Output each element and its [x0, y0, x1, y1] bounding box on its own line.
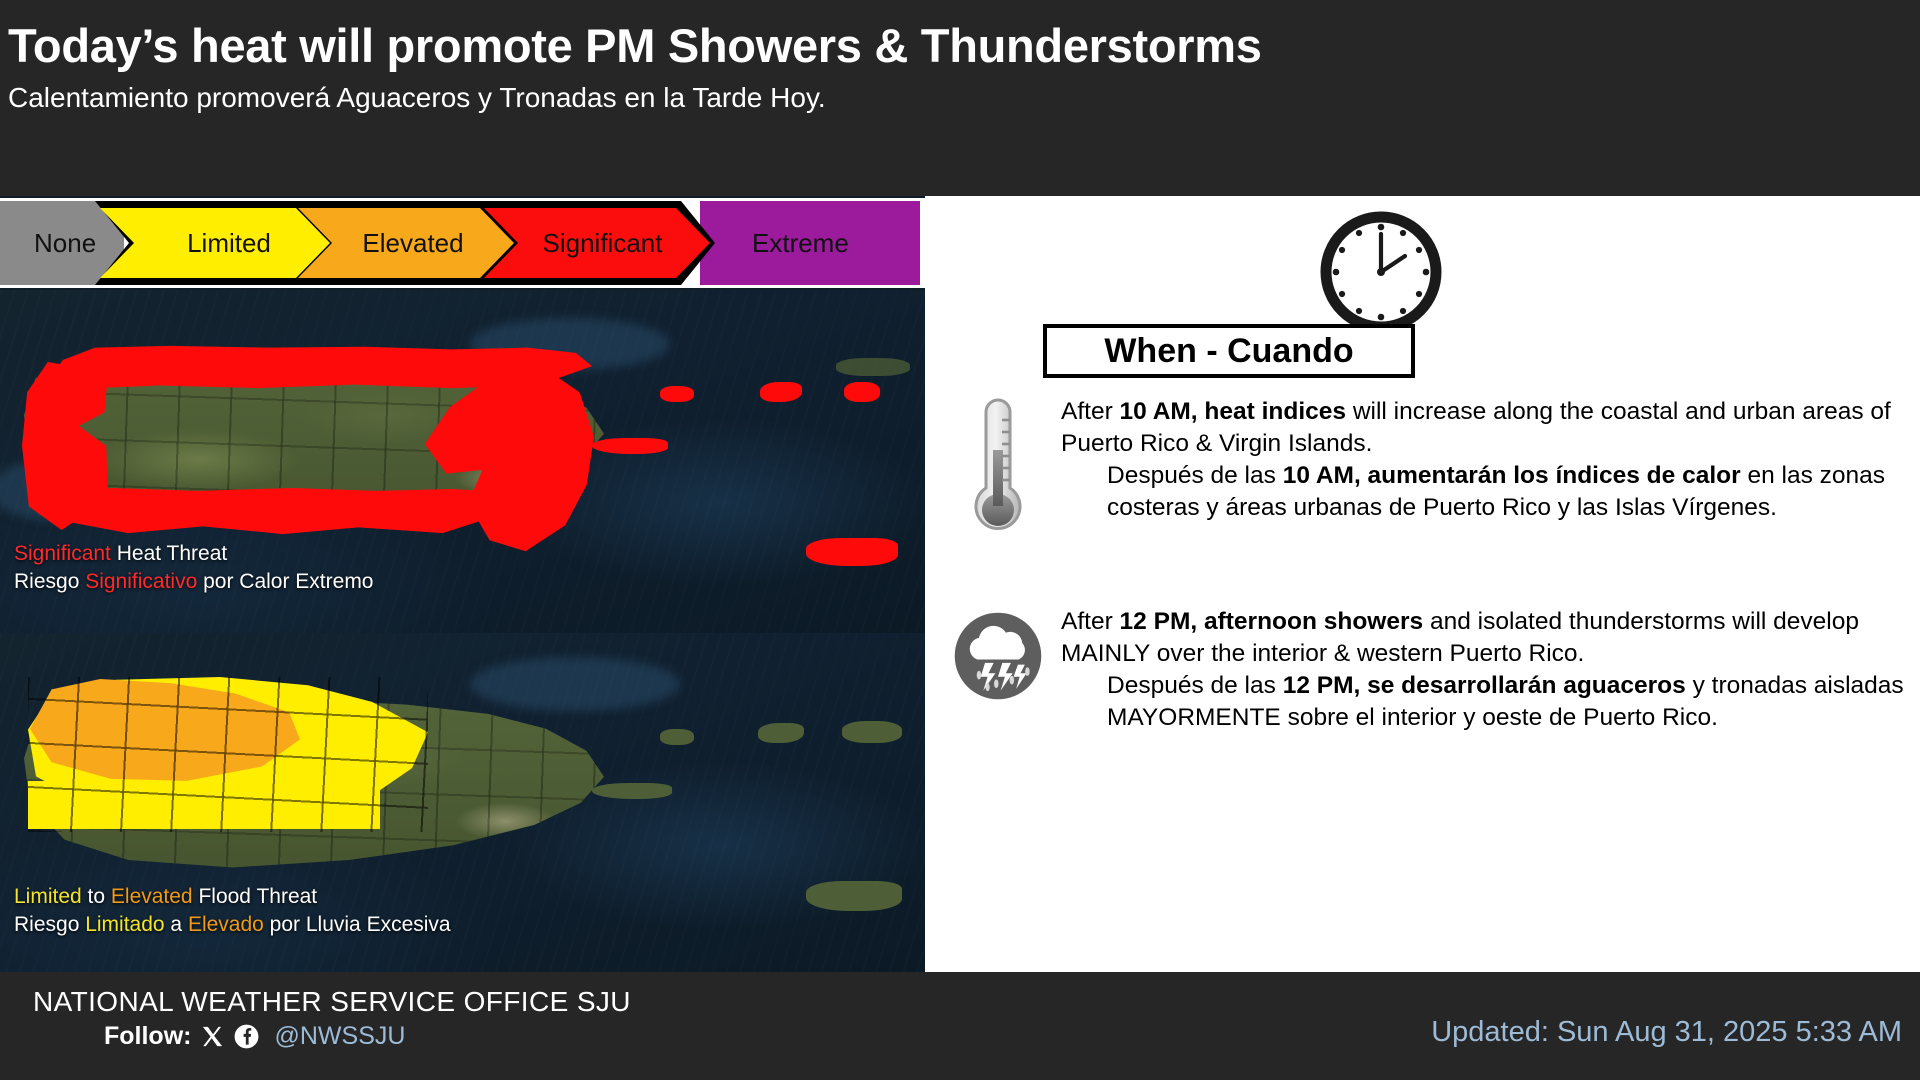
threat-scale: None Extreme Limited Elevated Sign: [0, 198, 925, 288]
page-subtitle: Calentamiento promoverá Aguaceros y Tron…: [8, 81, 1920, 115]
threat-level-significant-label: Significant: [495, 201, 710, 285]
heat-en-1: After: [1061, 398, 1120, 425]
when-panel: When - Cuando: [925, 196, 1920, 972]
st-thomas-heat-zone: [760, 382, 802, 402]
st-thomas-landmass: [758, 723, 804, 743]
follow-label: Follow:: [104, 1022, 191, 1051]
heat-threat-map[interactable]: Significant Heat Threat Riesgo Significa…: [0, 290, 925, 633]
when-heading: When - Cuando: [1104, 332, 1353, 371]
infographic-page: Today’s heat will promote PM Showers & T…: [0, 0, 1920, 1080]
flood-legend-es-pre: Riesgo: [14, 913, 85, 936]
header-banner: Today’s heat will promote PM Showers & T…: [0, 0, 1920, 196]
flood-legend-en-limited: Limited: [14, 885, 82, 908]
heat-legend-en: Significant Heat Threat: [14, 540, 374, 568]
threat-level-limited-label: Limited: [129, 201, 329, 285]
heat-legend-es: Riesgo Significativo por Calor Extremo: [14, 568, 374, 596]
threat-level-extreme: Extreme: [700, 201, 920, 285]
flood-legend-es-elevated: Elevado: [188, 913, 264, 936]
threat-chevron-band: Limited Elevated Significant: [95, 201, 715, 285]
st-john-landmass: [842, 721, 902, 743]
vieques-landmass: [592, 783, 672, 799]
heat-zone-south: [48, 488, 518, 536]
thunderstorm-icon: [953, 604, 1043, 733]
storm-es-1: Después de las: [1107, 672, 1283, 699]
heat-legend-en-rest: Heat Threat: [111, 542, 227, 565]
page-title: Today’s heat will promote PM Showers & T…: [8, 18, 1920, 73]
flood-legend-en: Limited to Elevated Flood Threat: [14, 883, 451, 911]
threat-level-elevated-label: Elevated: [313, 201, 513, 285]
storm-es-bold: 12 PM, se desarrollarán aguaceros: [1283, 672, 1686, 699]
when-item-storms-text: After 12 PM, afternoon showers and isola…: [1061, 604, 1913, 733]
heat-es-bold: 10 AM, aumentarán los índices de calor: [1283, 462, 1741, 489]
when-heading-box: When - Cuando: [1043, 324, 1415, 378]
heat-legend-es-post: por Calor Extremo: [197, 570, 373, 593]
heat-map-legend: Significant Heat Threat Riesgo Significa…: [14, 540, 374, 595]
culebra-landmass: [660, 729, 694, 745]
follow-group: Follow: @NWSSJU: [104, 1022, 405, 1051]
footer-bar: NATIONAL WEATHER SERVICE OFFICE SJU Foll…: [0, 972, 1920, 1080]
x-twitter-icon[interactable]: [200, 1024, 225, 1049]
heat-en-bold: 10 AM, heat indices: [1120, 398, 1346, 425]
heat-legend-es-pre: Riesgo: [14, 570, 85, 593]
tortola-landmass: [836, 358, 910, 376]
flood-map-legend: Limited to Elevated Flood Threat Riesgo …: [14, 883, 451, 938]
st-john-heat-zone: [844, 382, 880, 402]
storm-en-bold: 12 PM, afternoon showers: [1120, 608, 1424, 635]
flood-legend-en-to: to: [82, 885, 111, 908]
when-item-storms-spanish: Después de las 12 PM, se desarrollarán a…: [1061, 670, 1913, 734]
reef-shelf: [470, 657, 680, 711]
storm-en-1: After: [1061, 608, 1120, 635]
flood-legend-es-a: a: [165, 913, 188, 936]
office-name: NATIONAL WEATHER SERVICE OFFICE SJU: [33, 986, 631, 1018]
flood-threat-map[interactable]: Limited to Elevated Flood Threat Riesgo …: [0, 633, 925, 976]
vieques-heat-zone: [592, 438, 668, 454]
updated-timestamp: Updated: Sun Aug 31, 2025 5:33 AM: [1431, 1016, 1902, 1049]
facebook-icon[interactable]: [234, 1024, 259, 1049]
threat-level-extreme-label: Extreme: [752, 228, 849, 259]
when-item-heat-text: After 10 AM, heat indices will increase …: [1061, 394, 1913, 544]
thermometer-icon: [953, 394, 1043, 544]
flood-zone-limited-south: [28, 781, 380, 829]
st-croix-heat-zone: [806, 538, 898, 566]
heat-legend-en-level: Significant: [14, 542, 111, 565]
culebra-heat-zone: [660, 386, 694, 402]
social-handle[interactable]: @NWSSJU: [274, 1022, 405, 1051]
clock-icon: [1319, 210, 1443, 334]
flood-legend-en-elevated: Elevated: [111, 885, 193, 908]
flood-legend-en-rest: Flood Threat: [193, 885, 318, 908]
flood-legend-es: Riesgo Limitado a Elevado por Lluvia Exc…: [14, 911, 451, 939]
st-croix-landmass: [806, 881, 902, 911]
when-item-storms: After 12 PM, afternoon showers and isola…: [953, 604, 1913, 733]
when-item-heat: After 10 AM, heat indices will increase …: [953, 394, 1913, 544]
maps-panel: None Extreme Limited Elevated Sign: [0, 196, 925, 972]
threat-level-none-label: None: [34, 228, 96, 259]
when-item-heat-spanish: Después de las 10 AM, aumentarán los índ…: [1061, 460, 1913, 524]
heat-legend-es-level: Significativo: [85, 570, 197, 593]
flood-legend-es-limited: Limitado: [85, 913, 164, 936]
heat-es-1: Después de las: [1107, 462, 1283, 489]
flood-legend-es-rest: por Lluvia Excesiva: [264, 913, 451, 936]
